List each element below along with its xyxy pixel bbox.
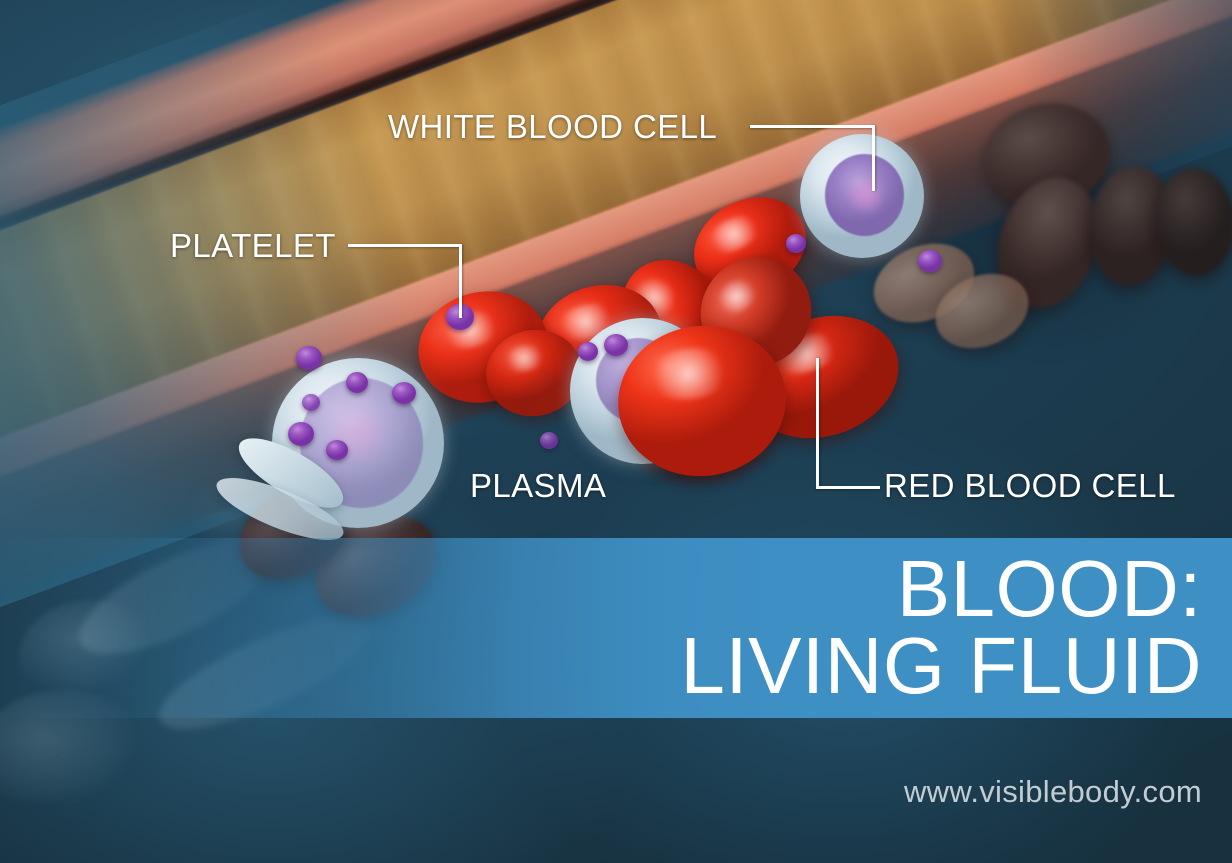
infographic-canvas: WHITE BLOOD CELL PLATELET PLASMA RED BLO… <box>0 0 1232 863</box>
platelet <box>604 334 628 356</box>
platelet <box>302 394 320 411</box>
platelet <box>326 440 348 460</box>
label-plasma: PLASMA <box>470 467 606 505</box>
platelet <box>786 234 806 253</box>
leader-line-white-blood-cell <box>872 125 875 191</box>
platelet <box>392 382 416 404</box>
platelet <box>918 250 942 272</box>
platelet <box>540 432 558 449</box>
leader-line-platelet <box>348 244 461 247</box>
label-white-blood-cell: WHITE BLOOD CELL <box>388 108 717 146</box>
label-red-blood-cell: RED BLOOD CELL <box>884 467 1176 505</box>
footer-url[interactable]: www.visiblebody.com <box>904 774 1202 810</box>
label-platelet: PLATELET <box>170 227 336 265</box>
nucleus-highlight <box>845 176 887 213</box>
platelet <box>296 346 322 370</box>
platelet <box>288 422 314 446</box>
platelet <box>346 372 368 393</box>
leader-line-white-blood-cell <box>750 125 874 128</box>
leader-line-platelet <box>459 244 462 318</box>
leader-line-red-blood-cell <box>816 358 819 488</box>
title-line-2: LIVING FLUID <box>680 628 1202 705</box>
white-blood-cell <box>800 134 924 258</box>
title-text: BLOOD: LIVING FLUID <box>680 551 1232 705</box>
leader-line-red-blood-cell <box>816 486 880 489</box>
platelet <box>578 342 598 361</box>
title-banner: BLOOD: LIVING FLUID <box>0 538 1232 718</box>
title-line-1: BLOOD: <box>680 551 1202 628</box>
